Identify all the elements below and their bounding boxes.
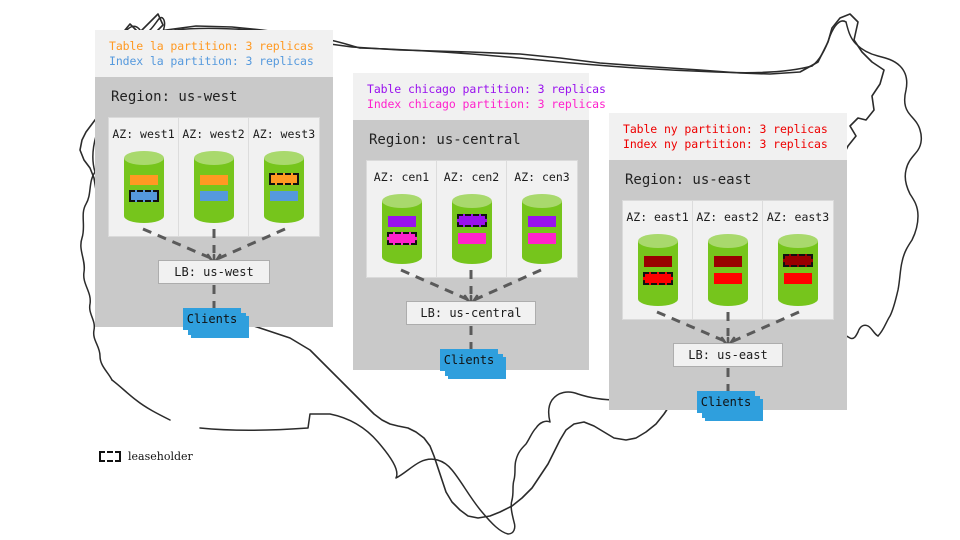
clients-us-west[interactable]: Clients <box>183 308 255 342</box>
region-panel-us-east: Table ny partition: 3 replicas Index ny … <box>609 113 847 413</box>
az-cell-west1[interactable]: AZ: west1 <box>109 118 179 236</box>
az-cell-west2[interactable]: AZ: west2 <box>179 118 249 236</box>
clients-us-east[interactable]: Clients <box>697 391 769 425</box>
index-replica-band <box>784 273 812 284</box>
cylinder-top <box>264 151 304 165</box>
database-cylinder[interactable] <box>778 234 818 306</box>
index-replica-band-leaseholder <box>643 272 673 285</box>
lb-label: LB: us-central <box>420 306 521 320</box>
cylinder-top <box>522 194 562 208</box>
cylinder-body <box>638 241 678 299</box>
az-label: AZ: east3 <box>767 210 829 224</box>
az-cell-cen1[interactable]: AZ: cen1 <box>367 161 437 277</box>
database-cylinder[interactable] <box>638 234 678 306</box>
az-label: AZ: east2 <box>696 210 758 224</box>
clients-us-central[interactable]: Clients <box>440 349 512 383</box>
index-partition-line: Index ny partition: 3 replicas <box>623 137 833 152</box>
table-replica-band-leaseholder <box>457 214 487 227</box>
region-body-us-central: Region: us-central AZ: cen1 AZ: cen2 <box>353 120 589 370</box>
load-balancer-us-west[interactable]: LB: us-west <box>158 260 270 284</box>
table-replica-band <box>528 216 556 227</box>
az-row-us-east: AZ: east1 AZ: east2 <box>622 200 834 320</box>
partition-summary-us-east: Table ny partition: 3 replicas Index ny … <box>609 113 847 160</box>
region-body-us-east: Region: us-east AZ: east1 AZ: east2 <box>609 160 847 410</box>
cylinder-body <box>264 158 304 216</box>
cylinder-top <box>778 234 818 248</box>
region-title: Region: us-central <box>353 120 589 148</box>
cylinder-top <box>708 234 748 248</box>
az-label: AZ: cen3 <box>514 170 569 184</box>
cylinder-body <box>124 158 164 216</box>
az-cell-east1[interactable]: AZ: east1 <box>623 201 693 319</box>
cylinder-body <box>382 201 422 257</box>
partition-summary-us-west: Table la partition: 3 replicas Index la … <box>95 30 333 77</box>
diagram-canvas: Table la partition: 3 replicas Index la … <box>0 0 960 540</box>
region-panel-us-central: Table chicago partition: 3 replicas Inde… <box>353 73 589 371</box>
table-replica-band <box>200 175 228 185</box>
clients-label: Clients <box>701 395 752 409</box>
cylinder-top <box>194 151 234 165</box>
index-replica-band <box>270 191 298 201</box>
database-cylinder[interactable] <box>194 151 234 223</box>
lb-label: LB: us-east <box>688 348 767 362</box>
az-label: AZ: west1 <box>112 127 174 141</box>
partition-summary-us-central: Table chicago partition: 3 replicas Inde… <box>353 73 589 120</box>
cylinder-body <box>452 201 492 257</box>
legend-leaseholder: leaseholder <box>99 450 193 463</box>
dashed-rect-icon <box>99 451 121 462</box>
cylinder-body <box>708 241 748 299</box>
region-title: Region: us-east <box>609 160 847 188</box>
clients-box[interactable]: Clients <box>697 391 755 413</box>
cylinder-body <box>522 201 562 257</box>
database-cylinder[interactable] <box>708 234 748 306</box>
clients-box[interactable]: Clients <box>440 349 498 371</box>
index-replica-band <box>714 273 742 284</box>
cylinder-top <box>452 194 492 208</box>
table-replica-band <box>644 256 672 267</box>
table-partition-line: Table chicago partition: 3 replicas <box>367 82 575 97</box>
az-label: AZ: cen1 <box>374 170 429 184</box>
database-cylinder[interactable] <box>264 151 304 223</box>
lb-label: LB: us-west <box>174 265 253 279</box>
index-partition-line: Index la partition: 3 replicas <box>109 54 319 69</box>
region-title: Region: us-west <box>95 77 333 105</box>
az-cell-cen3[interactable]: AZ: cen3 <box>507 161 577 277</box>
region-panel-us-west: Table la partition: 3 replicas Index la … <box>95 30 333 330</box>
legend-label: leaseholder <box>128 450 193 463</box>
index-replica-band-leaseholder <box>387 232 417 245</box>
az-cell-east2[interactable]: AZ: east2 <box>693 201 763 319</box>
az-cell-cen2[interactable]: AZ: cen2 <box>437 161 507 277</box>
database-cylinder[interactable] <box>452 194 492 264</box>
cylinder-body <box>194 158 234 216</box>
table-partition-line: Table ny partition: 3 replicas <box>623 122 833 137</box>
cylinder-body <box>778 241 818 299</box>
index-replica-band <box>458 233 486 244</box>
load-balancer-us-east[interactable]: LB: us-east <box>673 343 783 367</box>
table-replica-band-leaseholder <box>269 173 299 185</box>
cylinder-top <box>638 234 678 248</box>
index-partition-line: Index chicago partition: 3 replicas <box>367 97 575 112</box>
clients-label: Clients <box>187 312 238 326</box>
az-label: AZ: east1 <box>626 210 688 224</box>
az-label: AZ: cen2 <box>444 170 499 184</box>
cylinder-top <box>124 151 164 165</box>
database-cylinder[interactable] <box>124 151 164 223</box>
az-cell-west3[interactable]: AZ: west3 <box>249 118 319 236</box>
clients-label: Clients <box>444 353 495 367</box>
table-replica-band-leaseholder <box>783 254 813 267</box>
load-balancer-us-central[interactable]: LB: us-central <box>406 301 536 325</box>
az-cell-east3[interactable]: AZ: east3 <box>763 201 833 319</box>
az-row-us-west: AZ: west1 AZ: west2 <box>108 117 320 237</box>
clients-box[interactable]: Clients <box>183 308 241 330</box>
index-replica-band <box>200 191 228 201</box>
index-replica-band <box>528 233 556 244</box>
az-label: AZ: west2 <box>182 127 244 141</box>
region-body-us-west: Region: us-west AZ: west1 AZ: west2 <box>95 77 333 327</box>
table-replica-band <box>388 216 416 227</box>
az-label: AZ: west3 <box>253 127 315 141</box>
table-replica-band <box>130 175 158 185</box>
cylinder-top <box>382 194 422 208</box>
database-cylinder[interactable] <box>382 194 422 264</box>
az-row-us-central: AZ: cen1 AZ: cen2 <box>366 160 578 278</box>
database-cylinder[interactable] <box>522 194 562 264</box>
table-partition-line: Table la partition: 3 replicas <box>109 39 319 54</box>
index-replica-band-leaseholder <box>129 190 159 202</box>
table-replica-band <box>714 256 742 267</box>
